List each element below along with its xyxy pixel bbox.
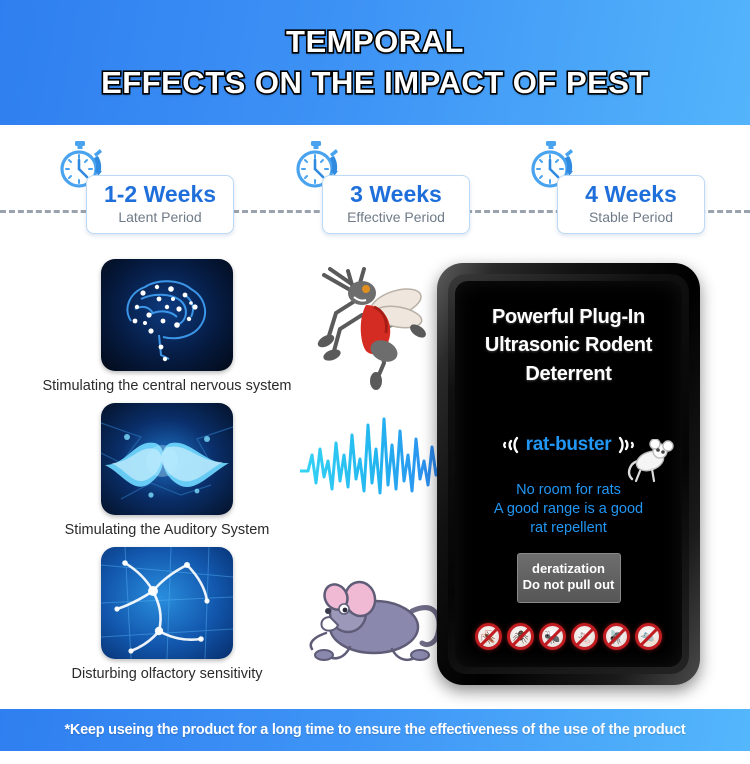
brand-name: rat-buster [526,434,612,456]
warning-label-line1: deratization [522,561,616,577]
header-banner: TEMPORAL EFFECTS ON THE IMPACT OF PEST [0,0,750,125]
pest-glyph: 🐁 [576,630,592,643]
device-tagline: No room for rats A good range is a good … [455,481,682,538]
device-title: Powerful Plug-In Ultrasonic Rodent Deter… [455,303,682,388]
timeline-badge-3[interactable]: 4 Weeks Stable Period [557,175,705,234]
no-mouse-icon: 🐁 [571,623,598,650]
device-bezel: Powerful Plug-In Ultrasonic Rodent Deter… [448,274,689,674]
brain-neural-network-image [101,259,233,371]
synapse-neuron-image [101,403,233,515]
badge-period-label: Latent Period [99,208,221,226]
pest-glyph: 🕷 [512,630,529,643]
feature-item-2: Stimulating the Auditory System [22,403,312,539]
no-rat-icon: 🐀 [635,623,662,650]
badge-weeks-label: 1-2 Weeks [99,182,221,207]
badge-weeks-label: 4 Weeks [570,182,692,207]
footer-banner: *Keep useing the product for a long time… [0,709,750,751]
pest-glyph: 🪳 [480,630,496,643]
feature-item-3: Disturbing olfactory sensitivity [22,547,312,683]
pest-glyph: 🐀 [640,630,656,643]
pest-glyph: 🐜 [544,630,560,643]
no-fly-icon: 🪰 [603,623,630,650]
badge-period-label: Effective Period [335,208,457,226]
ultrasonic-repeller-device[interactable]: Powerful Plug-In Ultrasonic Rodent Deter… [437,263,700,685]
feature-caption: Stimulating the central nervous system [22,378,312,395]
pest-glyph: 🪰 [608,630,624,643]
timeline-section: 1-2 Weeks Latent Period 3 [0,125,750,265]
footer-note: *Keep useing the product for a long time… [64,722,685,738]
page-title: TEMPORAL EFFECTS ON THE IMPACT OF PEST [101,22,649,104]
mouse-illustration [300,555,450,695]
neuron-cell-network-image [101,547,233,659]
ultrasonic-waveform [300,405,450,535]
device-front-panel: Powerful Plug-In Ultrasonic Rodent Deter… [455,281,682,667]
warning-label-line2: Do not pull out [522,577,616,593]
feature-caption: Stimulating the Auditory System [22,522,312,539]
main-content: Stimulating the central nervous system S… [0,255,750,700]
white-mouse-icon [622,439,674,487]
feature-caption: Disturbing olfactory sensitivity [22,666,312,683]
badge-weeks-label: 3 Weeks [335,182,457,207]
pest-icon-row: 🪳 🕷 🐜 🐁 🪰 🐀 [455,623,682,650]
no-ant-icon: 🐜 [539,623,566,650]
badge-period-label: Stable Period [570,208,692,226]
timeline-badge-1[interactable]: 1-2 Weeks Latent Period [86,175,234,234]
signal-waves-icon [499,433,521,457]
timeline-badge-2[interactable]: 3 Weeks Effective Period [322,175,470,234]
device-warning-label: deratization Do not pull out [517,553,621,603]
no-spider-icon: 🕷 [507,623,534,650]
feature-item-1: Stimulating the central nervous system [22,259,312,395]
mosquito-illustration [300,255,450,395]
no-cockroach-icon: 🪳 [475,623,502,650]
